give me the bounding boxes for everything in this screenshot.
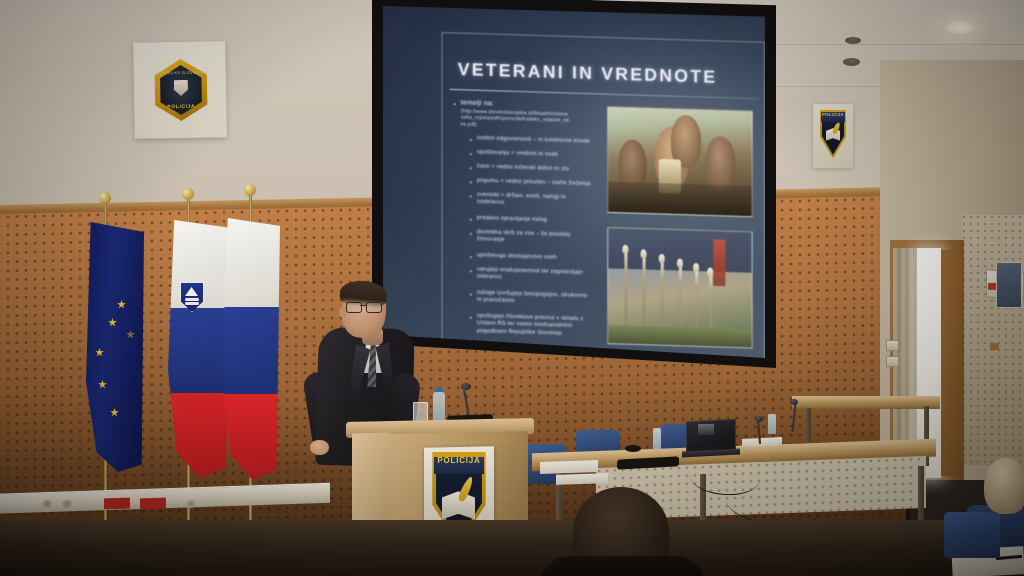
eyeglasses-icon — [346, 302, 362, 313]
paper-document — [556, 473, 608, 485]
slide-bullet: dosledna skrb za vse – še posebej žrtvov… — [477, 229, 582, 247]
microphone-head — [755, 416, 763, 422]
slide-bullet: spoštujejo človekove pravice v skladu z … — [477, 313, 590, 339]
right-wall-panel — [962, 215, 1024, 465]
water-bottle — [768, 414, 776, 434]
speaker-left-hand — [310, 440, 329, 455]
microphone-head — [790, 399, 798, 405]
paper-document — [540, 460, 598, 474]
ceiling-downlight — [942, 20, 978, 36]
floor — [0, 520, 1024, 576]
flag-slovenia — [222, 218, 280, 480]
slide-image-flagbearers — [607, 227, 752, 349]
slide-source-url: (http://www.slovenskavojska.si/fileadmin… — [461, 108, 570, 130]
presentation-room-photo: REPUBLIKA SLOVENIJA POLICIJA POLICIJA VE… — [0, 0, 1024, 576]
eyeglasses-icon — [366, 302, 382, 313]
slide-intro-label: temelji na: — [461, 99, 494, 108]
ceiling-downlight — [845, 37, 861, 44]
flag-european-union — [86, 222, 144, 472]
power-socket[interactable] — [104, 498, 130, 510]
flagpole-finial — [182, 188, 194, 200]
light-switch[interactable] — [886, 356, 899, 367]
flag-slovenia — [168, 220, 230, 478]
flagpole-finial — [244, 184, 256, 196]
hex-badge-subtext: REPUBLIKA SLOVENIJA — [156, 70, 206, 76]
conference-chair[interactable] — [944, 512, 1000, 558]
slide-image-ceremony — [607, 106, 752, 218]
light-switch[interactable] — [886, 340, 899, 351]
shield-label: POLICIJA — [430, 456, 488, 465]
flagpole-finial — [99, 192, 111, 204]
presentation-slide: VETERANI IN VREDNOTE temelji na: (http:/… — [383, 6, 765, 358]
audience-member-shoulders — [540, 556, 705, 576]
slide-bullet: zvestobi = državi, enoti, nalogi in sode… — [477, 192, 582, 210]
ceiling-downlight — [843, 58, 860, 66]
table-edge — [792, 404, 940, 409]
eyeglasses-bridge — [360, 305, 366, 306]
water-bottle — [653, 428, 661, 450]
wall-plaque-left: REPUBLIKA SLOVENIJA POLICIJA — [133, 41, 227, 139]
notice-board — [996, 262, 1022, 308]
door-panel[interactable] — [941, 250, 961, 476]
microphone-head — [461, 383, 471, 390]
audience-member-head — [984, 458, 1024, 514]
hex-badge-text: POLICIJA — [156, 104, 206, 111]
computer-mouse[interactable] — [625, 445, 641, 452]
laptop-screen — [698, 424, 714, 435]
door-handle[interactable] — [990, 343, 999, 350]
power-socket[interactable] — [140, 498, 166, 510]
shield-label: POLICIJA — [819, 112, 847, 117]
